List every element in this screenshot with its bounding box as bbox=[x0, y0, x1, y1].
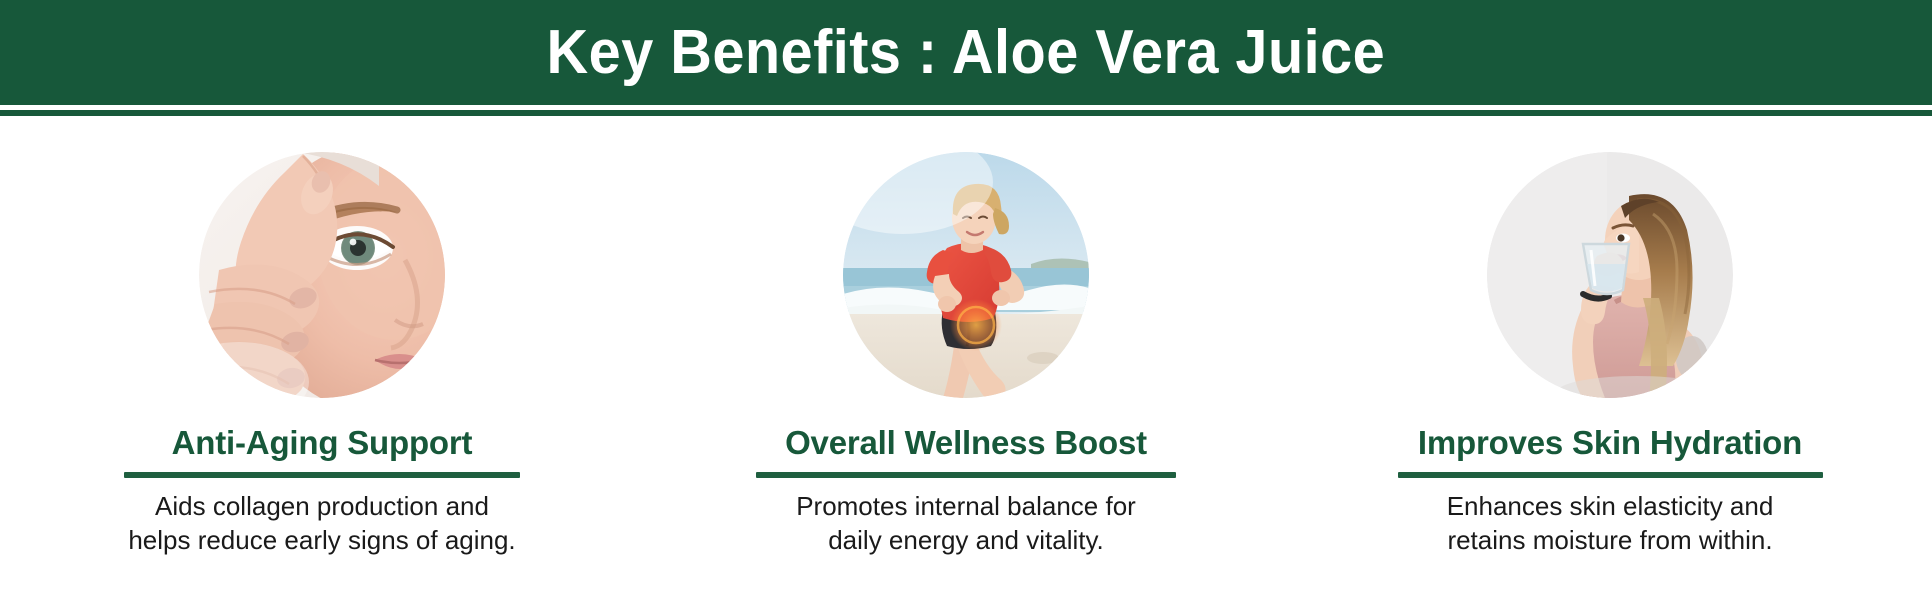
benefit-description-line-1: Enhances skin elasticity and bbox=[1395, 489, 1825, 523]
benefits-infographic: Key Benefits : Aloe Vera Juice bbox=[0, 0, 1932, 607]
benefit-description-line-2: retains moisture from within. bbox=[1395, 523, 1825, 557]
benefit-description-line-2: daily energy and vitality. bbox=[751, 523, 1181, 557]
benefit-cards-row: Anti-Aging Support Aids collagen product… bbox=[0, 126, 1932, 596]
benefit-title-rule bbox=[124, 472, 520, 478]
benefit-title-rule bbox=[756, 472, 1176, 478]
benefit-image-hydration bbox=[1487, 152, 1733, 398]
benefit-description: Enhances skin elasticity and retains moi… bbox=[1395, 489, 1825, 557]
benefit-title: Anti-Aging Support bbox=[172, 426, 473, 461]
benefit-image-anti-aging bbox=[199, 152, 445, 398]
benefit-card-anti-aging: Anti-Aging Support Aids collagen product… bbox=[0, 126, 644, 596]
benefit-description-line-1: Aids collagen production and bbox=[107, 489, 537, 523]
page-title: Key Benefits : Aloe Vera Juice bbox=[547, 22, 1386, 84]
benefit-description-line-1: Promotes internal balance for bbox=[751, 489, 1181, 523]
benefit-title: Overall Wellness Boost bbox=[785, 426, 1147, 461]
header-bar: Key Benefits : Aloe Vera Juice bbox=[0, 0, 1932, 105]
header-divider-rule bbox=[0, 110, 1932, 116]
benefit-title: Improves Skin Hydration bbox=[1418, 426, 1802, 461]
benefit-card-wellness: Overall Wellness Boost Promotes internal… bbox=[644, 126, 1288, 596]
benefit-card-hydration: Improves Skin Hydration Enhances skin el… bbox=[1288, 126, 1932, 596]
benefit-description: Aids collagen production and helps reduc… bbox=[107, 489, 537, 557]
benefit-description-line-2: helps reduce early signs of aging. bbox=[107, 523, 537, 557]
benefit-image-wellness bbox=[843, 152, 1089, 398]
benefit-description: Promotes internal balance for daily ener… bbox=[751, 489, 1181, 557]
benefit-title-rule bbox=[1398, 472, 1823, 478]
